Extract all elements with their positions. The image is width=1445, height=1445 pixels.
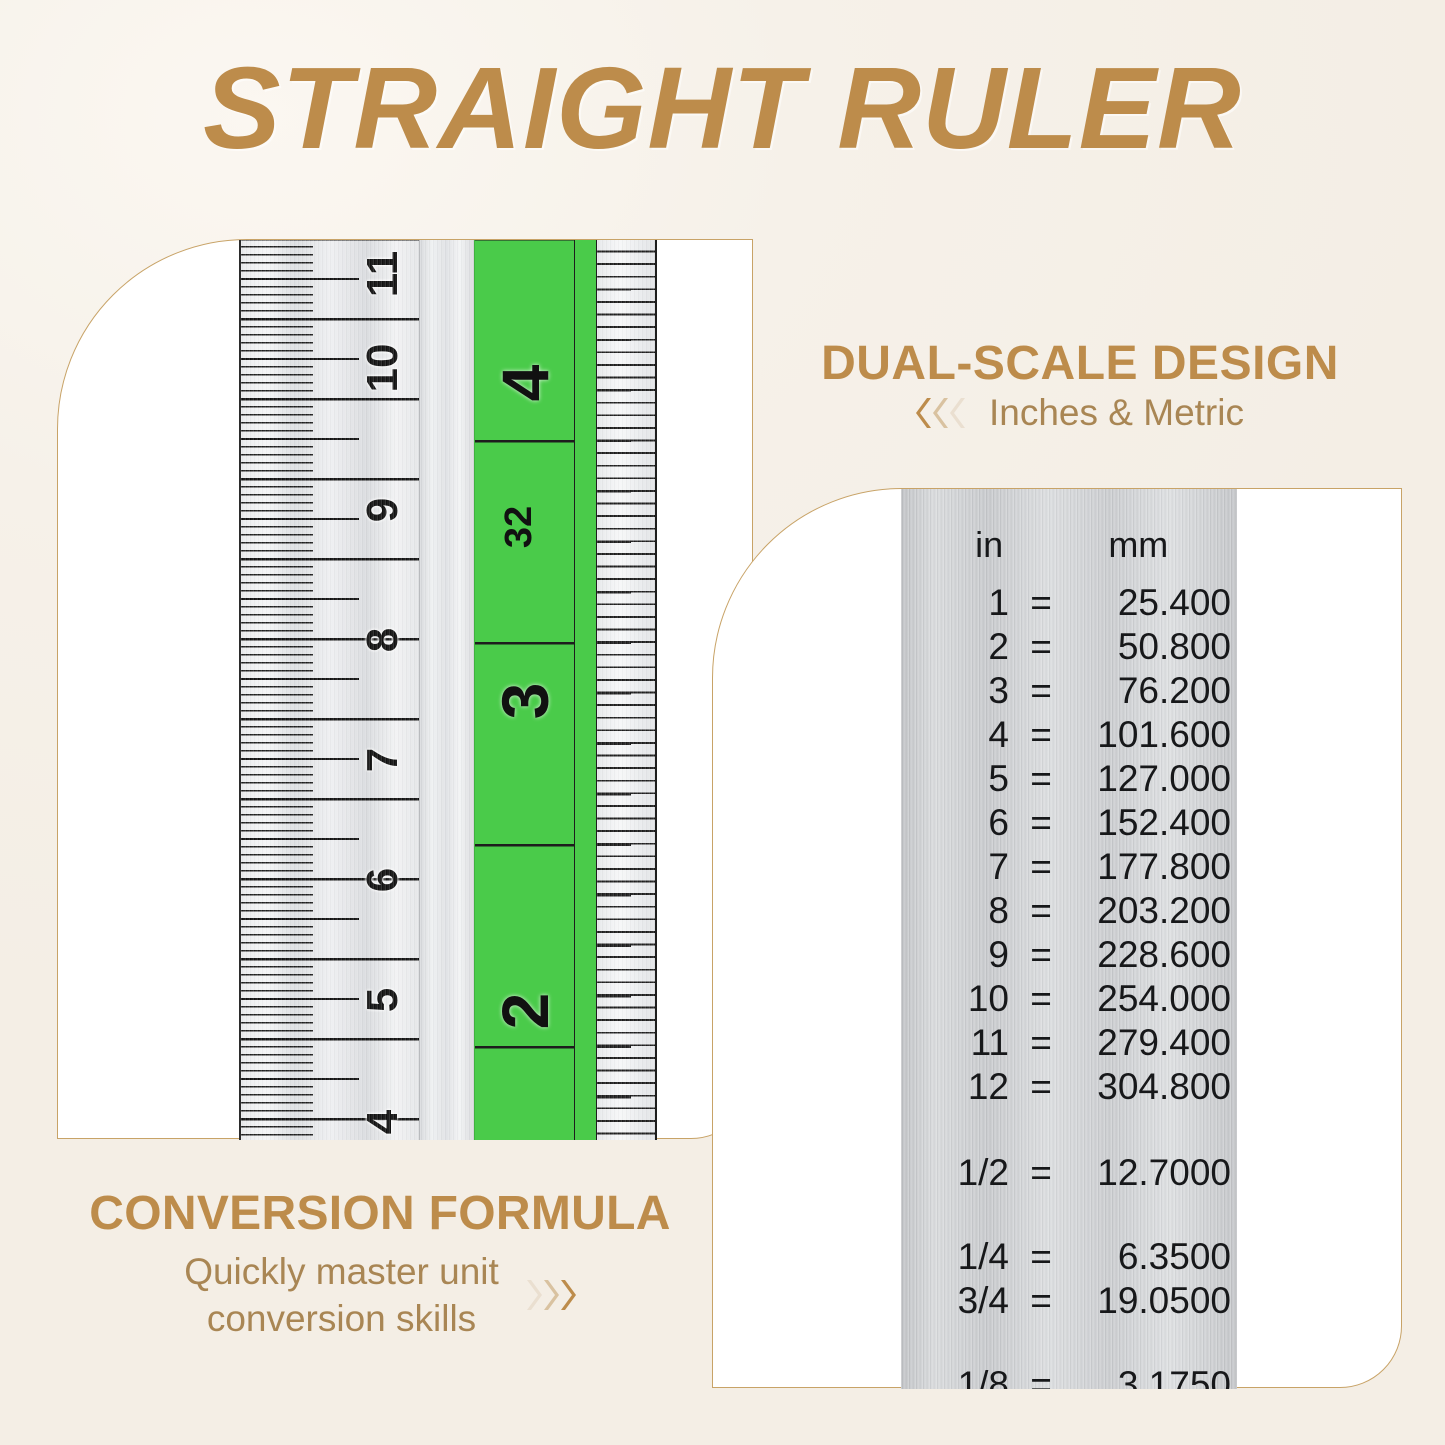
cell-equals: = bbox=[1009, 760, 1073, 797]
ruler-inch-band: 4 32 3 2 bbox=[474, 240, 575, 1140]
cell-equals: = bbox=[1009, 716, 1073, 753]
cell-mm: 19.0500 bbox=[1073, 1282, 1235, 1319]
cell-mm: 101.600 bbox=[1073, 716, 1235, 753]
ruler-photo: 11 10 9 8 7 6 5 4 4 32 3 2 bbox=[58, 240, 754, 1140]
conversion-subtitle: Quickly master unit conversion skills bbox=[184, 1248, 499, 1343]
cell-mm: 254.000 bbox=[1073, 980, 1235, 1017]
ruler-cm-label: 6 bbox=[361, 848, 405, 912]
cell-in: 1/2 bbox=[901, 1154, 1009, 1191]
ruler-cm-label: 11 bbox=[361, 242, 405, 306]
cell-in: 5 bbox=[901, 760, 1009, 797]
conversion-subtitle-line2: conversion skills bbox=[207, 1298, 476, 1339]
table-row: 6 = 152.400 bbox=[901, 801, 1237, 845]
ruler-half-cm-ticks bbox=[241, 278, 359, 1140]
table-row: 11 = 279.400 bbox=[901, 1021, 1237, 1065]
cell-mm: 76.200 bbox=[1073, 672, 1235, 709]
cell-equals: = bbox=[1009, 672, 1073, 709]
cell-mm: 3.1750 bbox=[1073, 1366, 1235, 1389]
cell-mm: 304.800 bbox=[1073, 1068, 1235, 1105]
metal-plate: in mm 1 = 25.400 2 = 50.800 3 = bbox=[901, 489, 1237, 1389]
dual-scale-heading: DUAL-SCALE DESIGN bbox=[760, 336, 1400, 391]
table-row: 5 = 127.000 bbox=[901, 757, 1237, 801]
ruler-32nds-scale bbox=[596, 240, 657, 1140]
cell-in: 12 bbox=[901, 1068, 1009, 1105]
chevron-left-icon bbox=[950, 396, 967, 430]
ruler-image-frame: 11 10 9 8 7 6 5 4 4 32 3 2 bbox=[57, 239, 753, 1139]
chevron-left-icon bbox=[933, 396, 950, 430]
ruler-cm-label: 5 bbox=[361, 968, 405, 1032]
table-row: 9 = 228.600 bbox=[901, 933, 1237, 977]
cell-mm: 152.400 bbox=[1073, 804, 1235, 841]
chevron-right-icon bbox=[525, 1278, 542, 1312]
cell-equals: = bbox=[1009, 980, 1073, 1017]
column-header-mm: mm bbox=[1064, 527, 1237, 563]
cell-equals: = bbox=[1009, 1068, 1073, 1105]
cell-in: 7 bbox=[901, 848, 1009, 885]
chevron-left-icon bbox=[916, 396, 933, 430]
conversion-table: in mm 1 = 25.400 2 = 50.800 3 = bbox=[901, 489, 1237, 1389]
cell-equals: = bbox=[1009, 936, 1073, 973]
table-row: 1/2 = 12.7000 bbox=[901, 1151, 1237, 1195]
ruler-fine-scale-label: 32 bbox=[500, 479, 538, 575]
cell-mm: 279.400 bbox=[1073, 1024, 1235, 1061]
table-group-gap bbox=[901, 1323, 1237, 1363]
cell-equals: = bbox=[1009, 1024, 1073, 1061]
cell-in: 6 bbox=[901, 804, 1009, 841]
cell-equals: = bbox=[1009, 1238, 1073, 1275]
cell-mm: 6.3500 bbox=[1073, 1238, 1235, 1275]
conversion-subtitle-row: Quickly master unit conversion skills bbox=[40, 1248, 720, 1343]
table-row: 1 = 25.400 bbox=[901, 581, 1237, 625]
table-row: 3 = 76.200 bbox=[901, 669, 1237, 713]
conversion-subtitle-line1: Quickly master unit bbox=[184, 1251, 499, 1292]
cell-in: 11 bbox=[901, 1024, 1009, 1061]
cell-equals: = bbox=[1009, 1282, 1073, 1319]
chevron-right-group bbox=[525, 1278, 576, 1312]
cell-mm: 25.400 bbox=[1073, 584, 1235, 621]
dual-scale-subtitle-row: Inches & Metric bbox=[760, 392, 1400, 434]
cell-in: 3 bbox=[901, 672, 1009, 709]
cell-mm: 127.000 bbox=[1073, 760, 1235, 797]
cell-in: 1/4 bbox=[901, 1238, 1009, 1275]
cell-equals: = bbox=[1009, 628, 1073, 665]
ruler-16th-ticks bbox=[597, 240, 631, 1140]
conversion-table-frame: in mm 1 = 25.400 2 = 50.800 3 = bbox=[712, 488, 1402, 1388]
cell-equals: = bbox=[1009, 892, 1073, 929]
cell-equals: = bbox=[1009, 848, 1073, 885]
table-row: 3/4 = 19.0500 bbox=[901, 1279, 1237, 1323]
cell-mm: 228.600 bbox=[1073, 936, 1235, 973]
infographic-canvas: STRAIGHT RULER 11 10 9 8 7 6 5 4 bbox=[0, 0, 1445, 1445]
ruler-cm-label: 8 bbox=[361, 608, 405, 672]
table-row: 7 = 177.800 bbox=[901, 845, 1237, 889]
chevron-right-icon bbox=[559, 1278, 576, 1312]
cell-mm: 177.800 bbox=[1073, 848, 1235, 885]
cell-in: 4 bbox=[901, 716, 1009, 753]
ruler-inch-label: 3 bbox=[492, 653, 558, 749]
conversion-formula-heading: CONVERSION FORMULA bbox=[40, 1186, 720, 1241]
cell-mm: 12.7000 bbox=[1073, 1154, 1235, 1191]
cell-in: 1/8 bbox=[901, 1366, 1009, 1389]
cell-equals: = bbox=[1009, 804, 1073, 841]
ruler-inch-label: 2 bbox=[492, 963, 558, 1059]
ruler-cm-label: 10 bbox=[361, 336, 405, 400]
ruler-cm-label: 4 bbox=[361, 1090, 405, 1140]
cell-mm: 203.200 bbox=[1073, 892, 1235, 929]
cell-equals: = bbox=[1009, 1154, 1073, 1191]
cell-mm: 50.800 bbox=[1073, 628, 1235, 665]
table-row: 10 = 254.000 bbox=[901, 977, 1237, 1021]
dual-scale-subtitle: Inches & Metric bbox=[989, 392, 1244, 434]
chevron-right-icon bbox=[542, 1278, 559, 1312]
ruler-metric-scale: 11 10 9 8 7 6 5 4 bbox=[239, 240, 421, 1140]
cell-in: 8 bbox=[901, 892, 1009, 929]
table-row: 4 = 101.600 bbox=[901, 713, 1237, 757]
table-row: 2 = 50.800 bbox=[901, 625, 1237, 669]
table-group-gap bbox=[901, 1195, 1237, 1235]
table-header-row: in mm bbox=[901, 523, 1237, 581]
ruler-cm-label: 9 bbox=[361, 478, 405, 542]
ruler-blank-gutter bbox=[419, 240, 476, 1140]
ruler-inch-label: 4 bbox=[492, 335, 558, 431]
table-row: 1/4 = 6.3500 bbox=[901, 1235, 1237, 1279]
column-header-in: in bbox=[901, 527, 1003, 563]
table-row: 12 = 304.800 bbox=[901, 1065, 1237, 1109]
page-title: STRAIGHT RULER bbox=[0, 46, 1445, 171]
ruler-cm-label: 7 bbox=[361, 728, 405, 792]
cell-in: 9 bbox=[901, 936, 1009, 973]
table-group-gap bbox=[901, 1109, 1237, 1151]
chevron-left-group bbox=[916, 396, 967, 430]
cell-equals: = bbox=[1009, 584, 1073, 621]
cell-in: 1 bbox=[901, 584, 1009, 621]
cell-in: 2 bbox=[901, 628, 1009, 665]
cell-in: 3/4 bbox=[901, 1282, 1009, 1319]
table-row: 1/8 = 3.1750 bbox=[901, 1363, 1237, 1390]
cell-in: 10 bbox=[901, 980, 1009, 1017]
table-row: 8 = 203.200 bbox=[901, 889, 1237, 933]
cell-equals: = bbox=[1009, 1366, 1073, 1389]
